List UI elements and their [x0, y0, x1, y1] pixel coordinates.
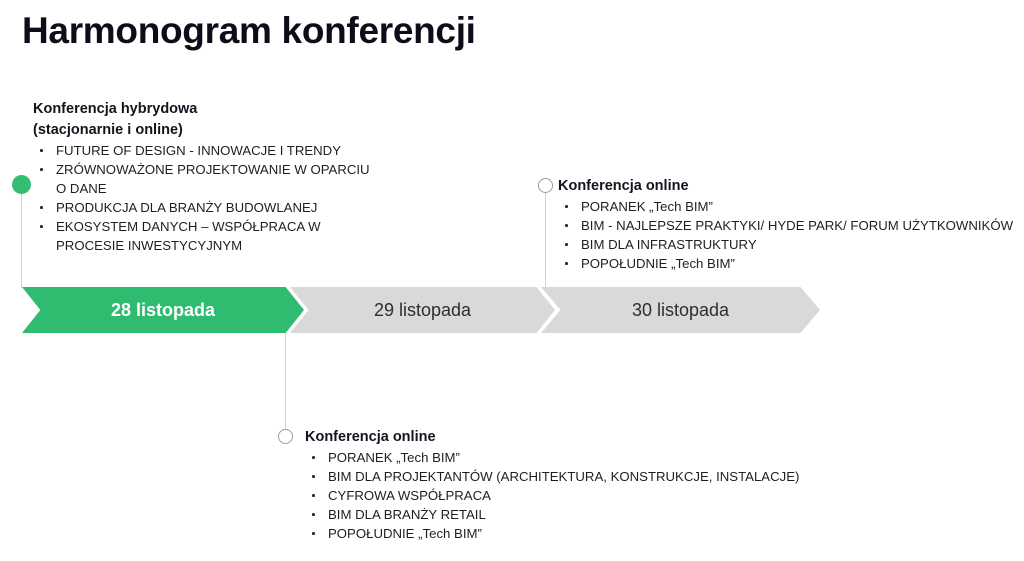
info-block-day3-title: Konferencja online	[558, 176, 1013, 197]
bullet-dot-icon	[565, 243, 568, 246]
page-title: Harmonogram konferencji	[22, 10, 476, 52]
list-item-label: BIM DLA BRANŻY RETAIL	[328, 507, 486, 522]
list-item: BIM DLA INFRASTRUKTURY	[558, 235, 1013, 254]
list-item: POPOŁUDNIE „Tech BIM”	[305, 524, 799, 543]
info-block-day2-list: PORANEK „Tech BIM” BIM DLA PROJEKTANTÓW …	[305, 448, 799, 543]
list-item: CYFROWA WSPÓŁPRACA	[305, 486, 799, 505]
list-item: ZRÓWNOWAŻONE PROJEKTOWANIE W OPARCIU O D…	[33, 160, 376, 198]
info-block-day1: Konferencja hybrydowa (stacjonarnie i on…	[33, 99, 386, 255]
bullet-dot-icon	[312, 494, 315, 497]
list-item-label: ZRÓWNOWAŻONE PROJEKTOWANIE W OPARCIU O D…	[56, 162, 370, 196]
slide-canvas: Harmonogram konferencji Konferencja hybr…	[0, 0, 1024, 561]
bullet-dot-icon	[565, 262, 568, 265]
list-item-label: PRODUKCJA DLA BRANŻY BUDOWLANEJ	[56, 200, 317, 215]
connector-line-day1	[21, 192, 22, 288]
list-item: BIM DLA PROJEKTANTÓW (ARCHITEKTURA, KONS…	[305, 467, 799, 486]
hollow-circle-marker-day3	[538, 178, 553, 193]
filled-circle-marker	[12, 175, 31, 194]
info-block-day2: Konferencja online PORANEK „Tech BIM” BI…	[305, 427, 799, 543]
list-item-label: PORANEK „Tech BIM”	[581, 199, 713, 214]
bullet-dot-icon	[312, 532, 315, 535]
info-block-day1-title-line2: (stacjonarnie i online)	[33, 120, 386, 141]
bullet-dot-icon	[565, 205, 568, 208]
list-item: BIM DLA BRANŻY RETAIL	[305, 505, 799, 524]
list-item: PORANEK „Tech BIM”	[558, 197, 1013, 216]
bullet-dot-icon	[40, 225, 43, 228]
list-item: PRODUKCJA DLA BRANŻY BUDOWLANEJ	[33, 198, 386, 217]
bullet-dot-icon	[40, 149, 43, 152]
list-item-label: BIM - NAJLEPSZE PRAKTYKI/ HYDE PARK/ FOR…	[581, 218, 1013, 233]
list-item-label: EKOSYSTEM DANYCH – WSPÓŁPRACA W PROCESIE…	[56, 219, 321, 253]
list-item: FUTURE OF DESIGN - INNOWACJE I TRENDY	[33, 141, 386, 160]
bullet-dot-icon	[312, 456, 315, 459]
hollow-circle-marker-day2	[278, 429, 293, 444]
bullet-dot-icon	[565, 224, 568, 227]
info-block-day3-list: PORANEK „Tech BIM” BIM - NAJLEPSZE PRAKT…	[558, 197, 1013, 273]
timeline-step-label: 28 listopada	[111, 301, 215, 319]
timeline-step-29-listopada[interactable]: 29 listopada	[290, 287, 555, 333]
list-item-label: POPOŁUDNIE „Tech BIM”	[328, 526, 482, 541]
bullet-dot-icon	[40, 206, 43, 209]
connector-line-day2	[285, 333, 286, 436]
list-item-label: BIM DLA INFRASTRUKTURY	[581, 237, 757, 252]
timeline-step-label: 30 listopada	[632, 301, 729, 319]
timeline-bar: 28 listopada 29 listopada 30 listopada	[22, 287, 820, 333]
timeline-step-28-listopada[interactable]: 28 listopada	[22, 287, 304, 333]
bullet-dot-icon	[312, 513, 315, 516]
timeline-step-30-listopada[interactable]: 30 listopada	[541, 287, 820, 333]
bullet-dot-icon	[312, 475, 315, 478]
info-block-day2-title: Konferencja online	[305, 427, 799, 448]
connector-line-day3	[545, 192, 546, 288]
timeline-step-label: 29 listopada	[374, 301, 471, 319]
list-item: EKOSYSTEM DANYCH – WSPÓŁPRACA W PROCESIE…	[33, 217, 386, 255]
info-block-day1-title-line1: Konferencja hybrydowa	[33, 99, 386, 120]
list-item-label: FUTURE OF DESIGN - INNOWACJE I TRENDY	[56, 143, 341, 158]
list-item: PORANEK „Tech BIM”	[305, 448, 799, 467]
info-block-day3: Konferencja online PORANEK „Tech BIM” BI…	[558, 176, 1013, 273]
info-block-day1-list: FUTURE OF DESIGN - INNOWACJE I TRENDY ZR…	[33, 141, 386, 255]
list-item-label: POPOŁUDNIE „Tech BIM”	[581, 256, 735, 271]
list-item-label: PORANEK „Tech BIM”	[328, 450, 460, 465]
list-item-label: BIM DLA PROJEKTANTÓW (ARCHITEKTURA, KONS…	[328, 469, 799, 484]
list-item-label: CYFROWA WSPÓŁPRACA	[328, 488, 491, 503]
list-item: POPOŁUDNIE „Tech BIM”	[558, 254, 1013, 273]
bullet-dot-icon	[40, 168, 43, 171]
list-item: BIM - NAJLEPSZE PRAKTYKI/ HYDE PARK/ FOR…	[558, 216, 1013, 235]
